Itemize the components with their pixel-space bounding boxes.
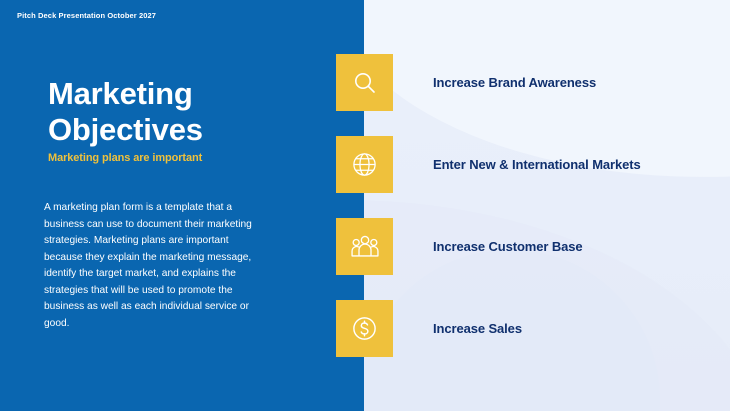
objective-item-2[interactable]: Enter New & International Markets xyxy=(336,136,716,193)
slide-canvas: Pitch Deck Presentation October 2027 Mar… xyxy=(0,0,730,411)
deck-kicker-text: Pitch Deck Presentation October 2027 xyxy=(17,11,156,20)
objective-item-1[interactable]: Increase Brand Awareness xyxy=(336,54,716,111)
dollar-circle-icon xyxy=(351,315,378,342)
icon-tile-4 xyxy=(336,300,393,357)
objective-label-1: Increase Brand Awareness xyxy=(433,54,596,111)
icon-tile-3 xyxy=(336,218,393,275)
icon-tile-2 xyxy=(336,136,393,193)
objective-item-4[interactable]: Increase Sales xyxy=(336,300,716,357)
page-title: Marketing Objectives xyxy=(48,76,348,148)
body-paragraph: A marketing plan form is a template that… xyxy=(44,200,266,332)
objective-item-3[interactable]: Increase Customer Base xyxy=(336,218,716,275)
globe-icon xyxy=(351,151,378,178)
page-subtitle: Marketing plans are important xyxy=(48,152,202,164)
page-title-line-2: Objectives xyxy=(48,112,348,148)
search-icon xyxy=(352,70,378,96)
page-title-line-1: Marketing xyxy=(48,76,348,112)
people-group-icon xyxy=(350,234,380,260)
objective-label-3: Increase Customer Base xyxy=(433,218,583,275)
icon-tile-1 xyxy=(336,54,393,111)
objective-label-2: Enter New & International Markets xyxy=(433,136,641,193)
objective-label-4: Increase Sales xyxy=(433,300,522,357)
